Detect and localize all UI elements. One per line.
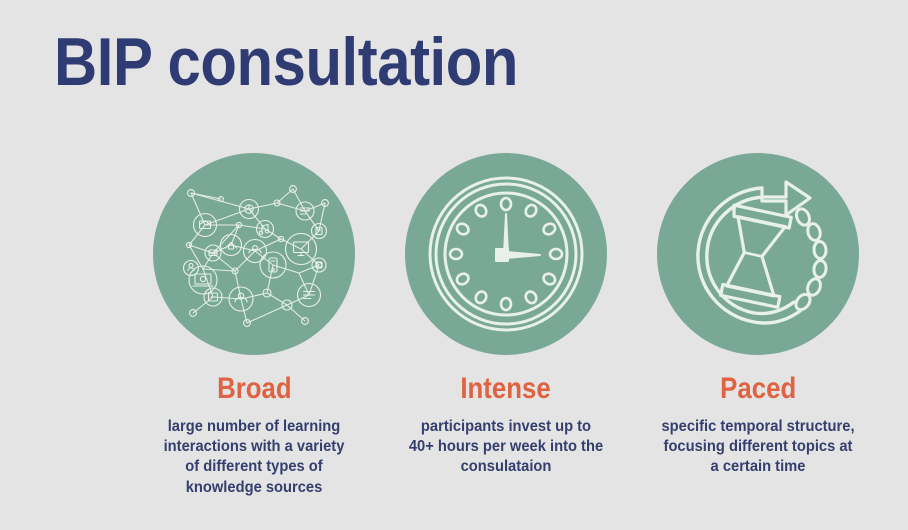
feature-description-broad: large number of learning interactions wi… [156,417,353,499]
feature-column-paced: Paced specific temporal structure, focus… [632,153,884,498]
feature-heading-intense: Intense [461,373,551,405]
feature-heading-broad: Broad [217,373,292,405]
feature-columns: Broad large number of learning interacti… [0,153,908,498]
network-nodes-icon [169,169,339,339]
hourglass-arrow-icon [674,170,842,338]
feature-description-paced: specific temporal structure, focusing di… [660,417,857,478]
feature-column-intense: Intense participants invest up to 40+ ho… [380,153,632,498]
feature-description-intense: participants invest up to 40+ hours per … [408,417,605,478]
wall-clock-icon [422,170,590,338]
feature-column-broad: Broad large number of learning interacti… [128,153,380,498]
icon-circle-intense [405,153,607,355]
icon-circle-broad [153,153,355,355]
slide-root: BIP consultation [0,0,908,530]
page-title: BIP consultation [54,28,518,96]
feature-heading-paced: Paced [720,373,796,405]
icon-circle-paced [657,153,859,355]
